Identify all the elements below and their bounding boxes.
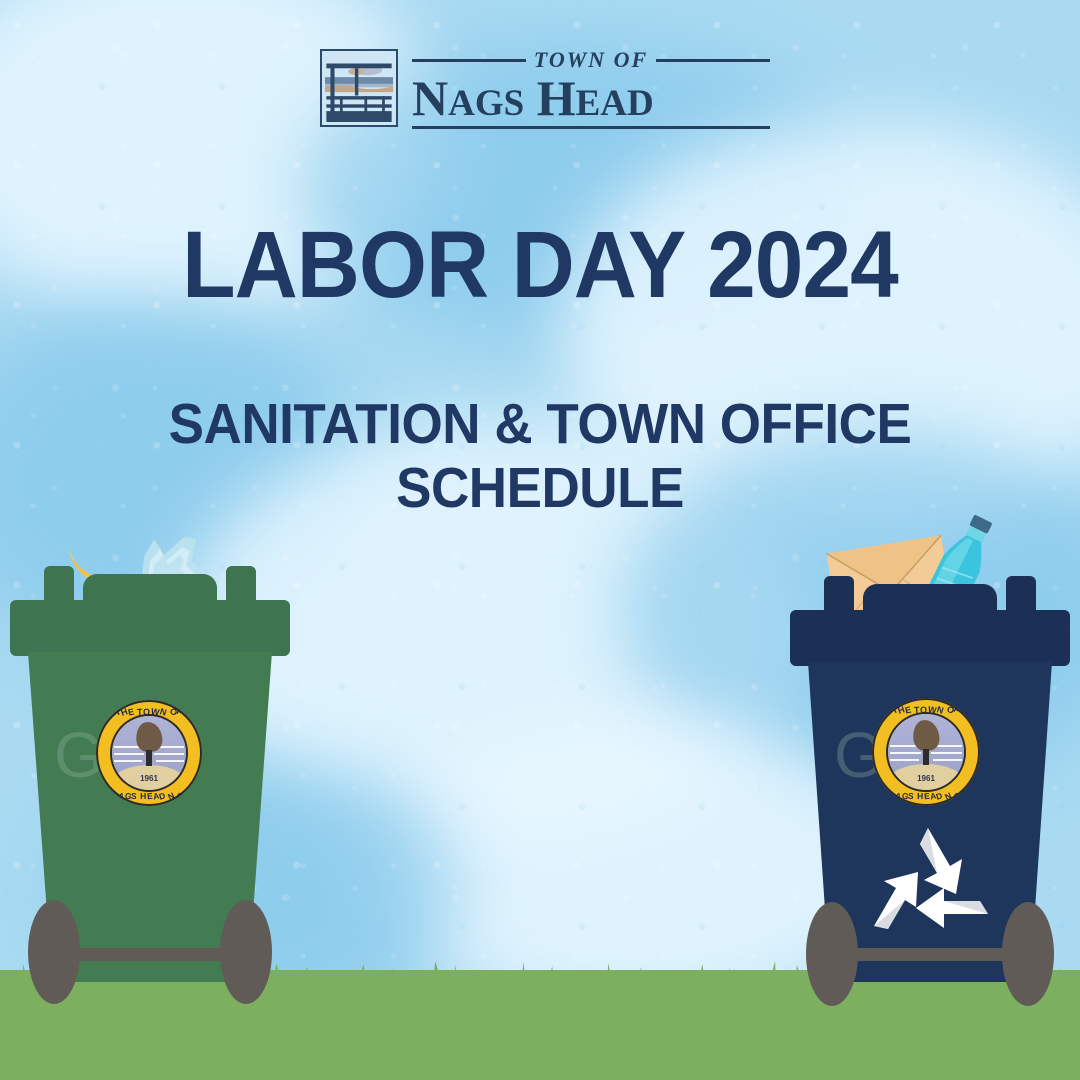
grass-blade	[352, 964, 371, 1000]
page-title: LABOR DAY 2024	[43, 218, 1037, 313]
grass-blade	[401, 983, 417, 1000]
grass-blade	[1073, 983, 1080, 1000]
grass-blade	[471, 969, 482, 1000]
grass-blade	[312, 982, 324, 1000]
bin-wheel-left	[806, 902, 858, 1006]
logo-n: N	[412, 70, 448, 126]
grass-blade	[323, 971, 332, 1000]
bin-lid-tab-right	[1006, 576, 1036, 614]
logo-rule-left	[412, 59, 526, 62]
seal-lighthouse	[146, 750, 152, 766]
town-seal: THE TOWN OF NAGS HEAD N.C. 1961	[96, 700, 202, 806]
recycling-bin: GET THE TOWN OF NAGS HEAD N.C. 1961	[790, 610, 1070, 1010]
grass-blade	[578, 985, 588, 1000]
seal-year: 1961	[888, 774, 964, 783]
bin-lid	[10, 600, 290, 656]
page-subtitle: SANITATION & TOWN OFFICE SCHEDULE	[122, 393, 959, 521]
town-seal: THE TOWN OF NAGS HEAD N.C. 1961	[872, 698, 980, 806]
seal-arc-bottom: NAGS HEAD N.C.	[872, 791, 980, 801]
grass-blade	[779, 976, 790, 1000]
seal-horse-head	[911, 718, 941, 752]
grass-blade	[518, 962, 527, 1000]
grass-blade	[586, 974, 603, 1000]
seal-year: 1961	[112, 774, 186, 783]
grass-blade	[451, 965, 461, 1000]
bin-wheel-right	[1002, 902, 1054, 1006]
grass-blade	[737, 983, 748, 1000]
grass-blade	[635, 967, 649, 1000]
pier-illustration-icon	[320, 49, 398, 127]
grass-blade	[650, 982, 659, 1000]
bin-wheel-left	[28, 900, 80, 1004]
bin-lid-tab-left	[824, 576, 854, 614]
bin-lid-tab-right	[226, 566, 256, 604]
labor-day-schedule-poster: TOWN OF NAGS HEAD LABOR DAY 2024 SANITAT…	[0, 0, 1080, 1080]
grass-blade	[545, 966, 557, 1000]
bin-axle	[62, 948, 238, 961]
logo-main-text: NAGS HEAD	[412, 73, 770, 124]
logo-top-row: TOWN OF	[412, 47, 770, 73]
grass-blade	[385, 968, 397, 1000]
trash-bin: GET THE TOWN OF NAGS HEAD N.C. 1961	[10, 600, 290, 1000]
seal-horse-head	[134, 720, 164, 753]
bin-lid	[790, 610, 1070, 666]
grass-blade	[504, 973, 516, 1000]
logo-ead: EAD	[576, 83, 654, 124]
bin-wheel-right	[220, 900, 272, 1004]
logo-rule-right	[656, 59, 770, 62]
logo-h: H	[537, 70, 576, 126]
subtitle-line-2: SCHEDULE	[122, 457, 959, 521]
logo-rule-bottom	[412, 126, 770, 129]
seal-lighthouse	[923, 749, 929, 765]
grass-blade	[603, 963, 617, 1000]
seal-field: 1961	[888, 714, 964, 790]
town-of-nags-head-logo: TOWN OF NAGS HEAD	[320, 44, 770, 132]
subtitle-line-1: SANITATION & TOWN OFFICE	[122, 393, 959, 457]
grass-blade	[721, 968, 737, 1000]
logo-ags: AGS	[448, 83, 524, 124]
grass-blade	[370, 979, 384, 1000]
grass-blade	[488, 984, 504, 1000]
seal-field: 1961	[112, 716, 186, 790]
bin-axle	[842, 948, 1018, 961]
recycle-icon	[858, 822, 998, 952]
bin-lid-tab-left	[44, 566, 74, 604]
grass-blade	[415, 972, 428, 1000]
grass-blade	[675, 986, 685, 1000]
grass-blade	[705, 979, 714, 1000]
seal-arc-bottom: NAGS HEAD N.C.	[96, 791, 202, 801]
